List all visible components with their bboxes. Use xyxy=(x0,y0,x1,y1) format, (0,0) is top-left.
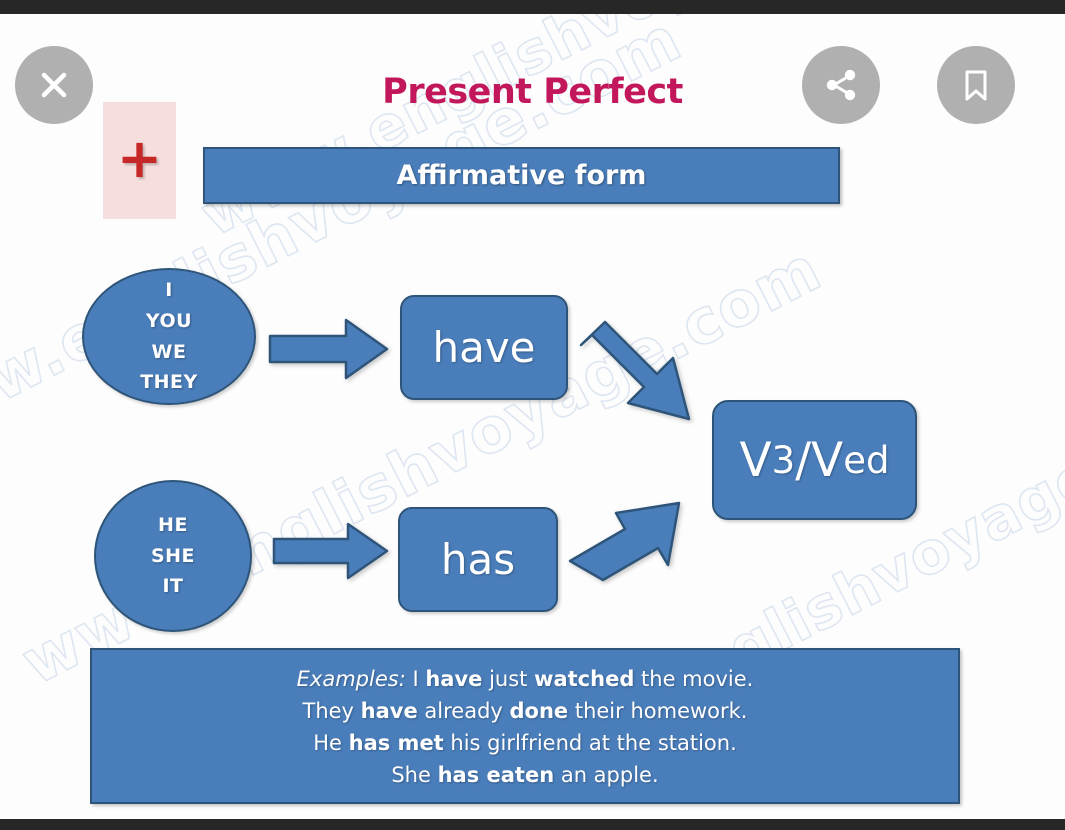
subject-line: WE xyxy=(152,337,187,368)
verb-form-prefix: V xyxy=(740,433,772,488)
subject-group-singular: HE SHE IT xyxy=(94,480,252,632)
arrow-diagonal-have-to-verb xyxy=(573,319,713,429)
bookmark-button[interactable] xyxy=(937,46,1015,124)
auxiliary-has-label: has xyxy=(441,535,515,584)
image-canvas: www.englishvoyage.com www.englishvoyage.… xyxy=(0,14,1065,819)
plus-badge: + xyxy=(103,102,176,219)
affirmative-form-banner: Affirmative form xyxy=(203,147,840,204)
subject-group-plural: I YOU WE THEY xyxy=(82,268,256,405)
subject-line: HE xyxy=(158,510,188,541)
screenshot-root: www.englishvoyage.com www.englishvoyage.… xyxy=(0,0,1065,830)
top-chrome-bar xyxy=(0,0,1065,14)
subject-line: YOU xyxy=(146,306,192,337)
verb-form-number: 3 xyxy=(772,439,796,482)
example-line: Examples: I have just watched the movie. xyxy=(297,664,754,696)
bottom-chrome-bar xyxy=(0,819,1065,830)
verb-form-box: V3/Ved xyxy=(712,400,917,520)
example-line: She has eaten an apple. xyxy=(391,760,658,792)
share-button[interactable] xyxy=(802,46,880,124)
banner-label: Affirmative form xyxy=(397,160,647,191)
close-icon xyxy=(32,63,76,107)
subject-line: I xyxy=(165,275,173,306)
example-line: He has met his girlfriend at the station… xyxy=(313,728,737,760)
bookmark-icon xyxy=(956,65,996,105)
arrow-right-singular-to-has xyxy=(272,522,390,580)
verb-form-slash: /V xyxy=(795,433,843,488)
verb-form-suffix: ed xyxy=(843,439,889,482)
subject-line: THEY xyxy=(140,367,198,398)
auxiliary-have-box: have xyxy=(400,295,568,400)
example-line: They have already done their homework. xyxy=(303,696,748,728)
subject-line: IT xyxy=(162,571,183,602)
share-icon xyxy=(820,64,862,106)
auxiliary-have-label: have xyxy=(432,323,535,372)
subject-line: SHE xyxy=(151,541,195,572)
examples-panel: Examples: I have just watched the movie.… xyxy=(90,648,960,804)
arrow-right-plural-to-have xyxy=(268,318,390,380)
plus-icon: + xyxy=(117,132,162,186)
auxiliary-has-box: has xyxy=(398,507,558,612)
arrow-diagonal-has-to-verb xyxy=(567,489,707,589)
close-button[interactable] xyxy=(15,46,93,124)
